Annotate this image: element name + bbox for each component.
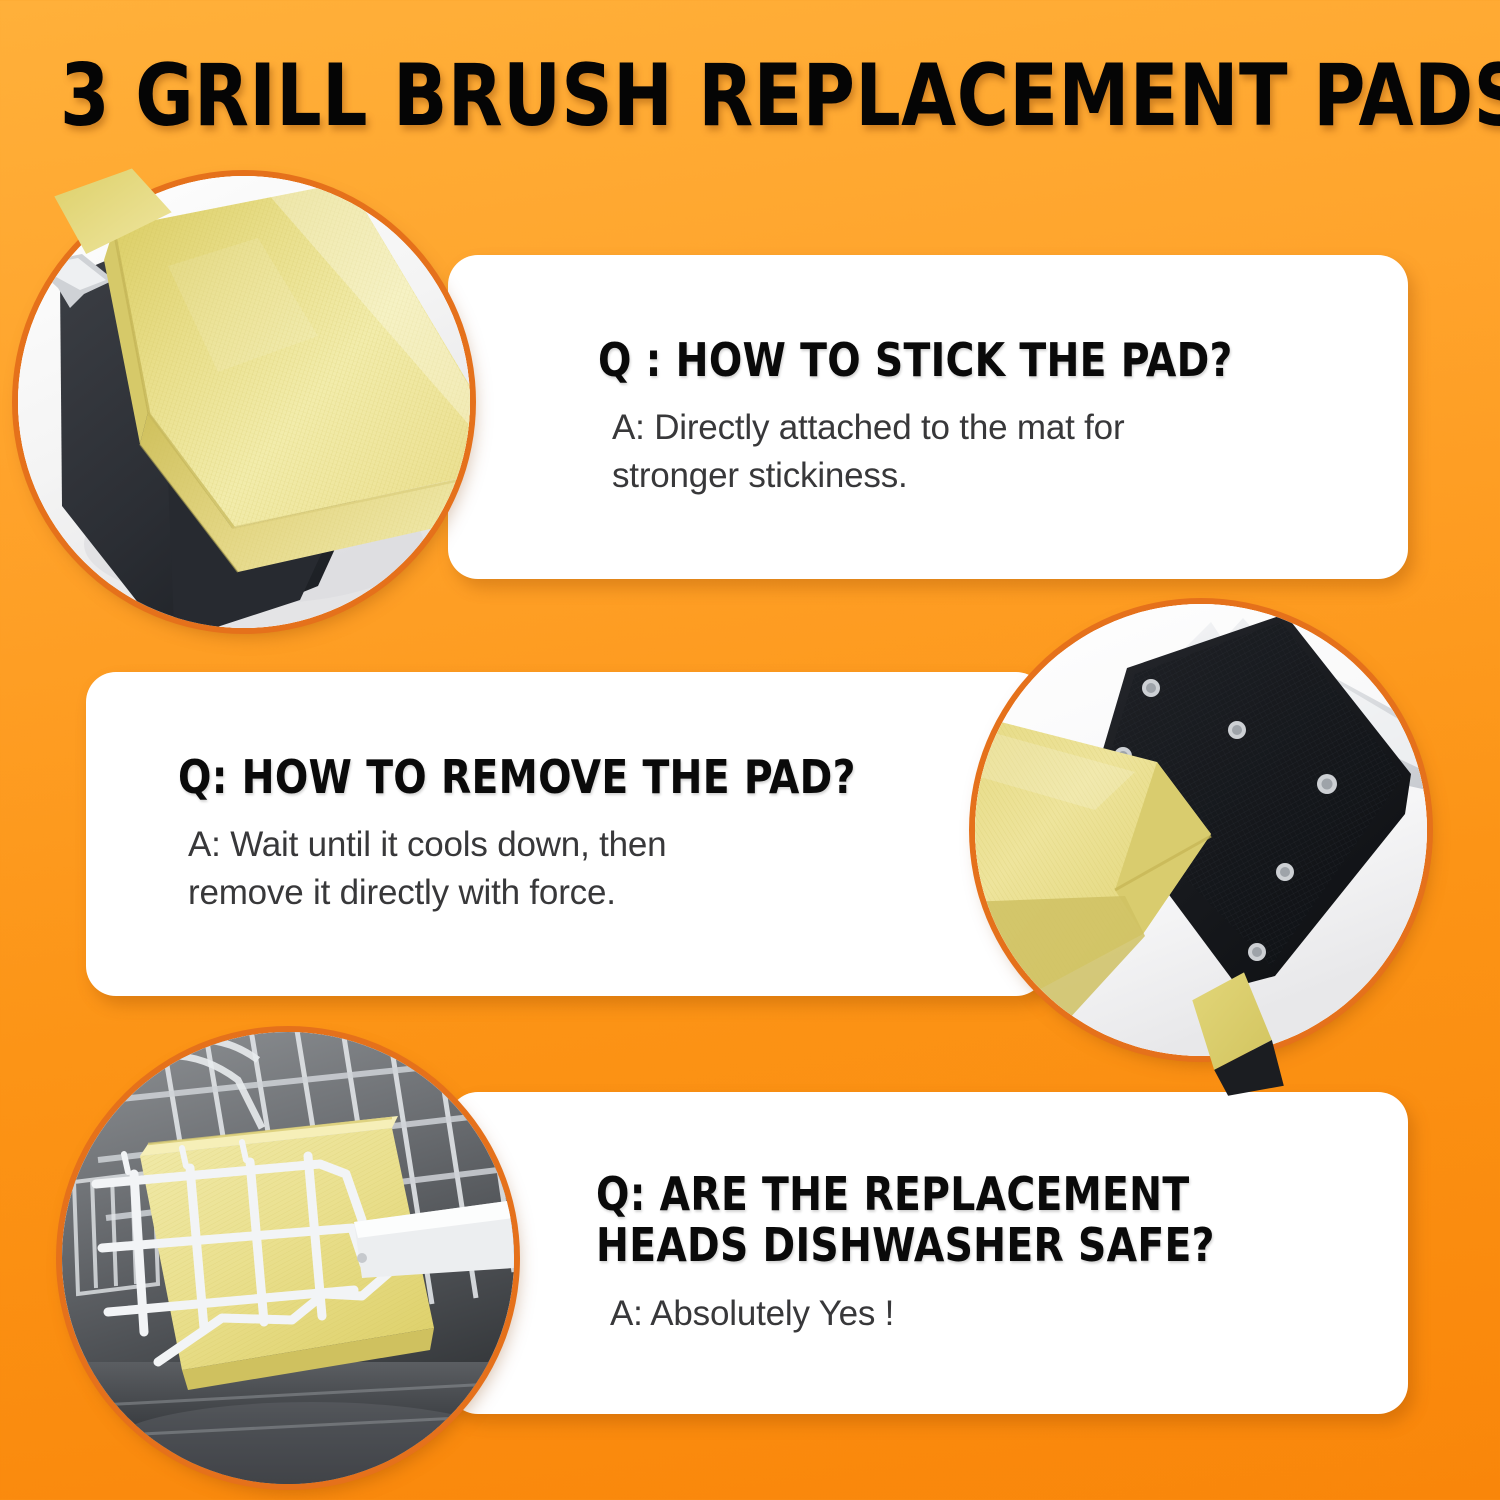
faq-card-stick-pad: Q : HOW TO STICK THE PAD? A: Directly at… [448,255,1408,579]
infographic-stage: 3 GRILL BRUSH REPLACEMENT PADS Q : HOW T… [0,0,1500,1500]
faq-question-remove-pad: Q: HOW TO REMOVE THE PAD? [178,752,856,804]
dishwasher-rack-illustration [62,1032,514,1484]
faq-answer-remove-pad: A: Wait until it cools down, then remove… [178,821,666,916]
yellow-pad-on-scraper-photo [18,176,470,628]
photo-clip [62,1032,514,1484]
page-title: 3 GRILL BRUSH REPLACEMENT PADS [60,46,1440,146]
pad-in-dishwasher-rack-photo [62,1032,514,1484]
faq-answer-dishwasher-safe: A: Absolutely Yes ! [596,1290,894,1338]
faq-question-stick-pad: Q : HOW TO STICK THE PAD? [598,335,1233,387]
black-head-with-screws-illustration [975,604,1427,1056]
pad-on-scraper-illustration [18,176,470,628]
faq-answer-stick-pad: A: Directly attached to the mat for stro… [598,404,1124,499]
pad-removed-showing-black-head-photo [975,604,1427,1056]
faq-question-dishwasher-safe: Q: ARE THE REPLACEMENT HEADS DISHWASHER … [596,1169,1215,1272]
photo-clip [18,176,470,628]
faq-card-remove-pad: Q: HOW TO REMOVE THE PAD? A: Wait until … [86,672,1046,996]
faq-card-dishwasher-safe: Q: ARE THE REPLACEMENT HEADS DISHWASHER … [448,1092,1408,1414]
photo-clip [975,604,1427,1056]
